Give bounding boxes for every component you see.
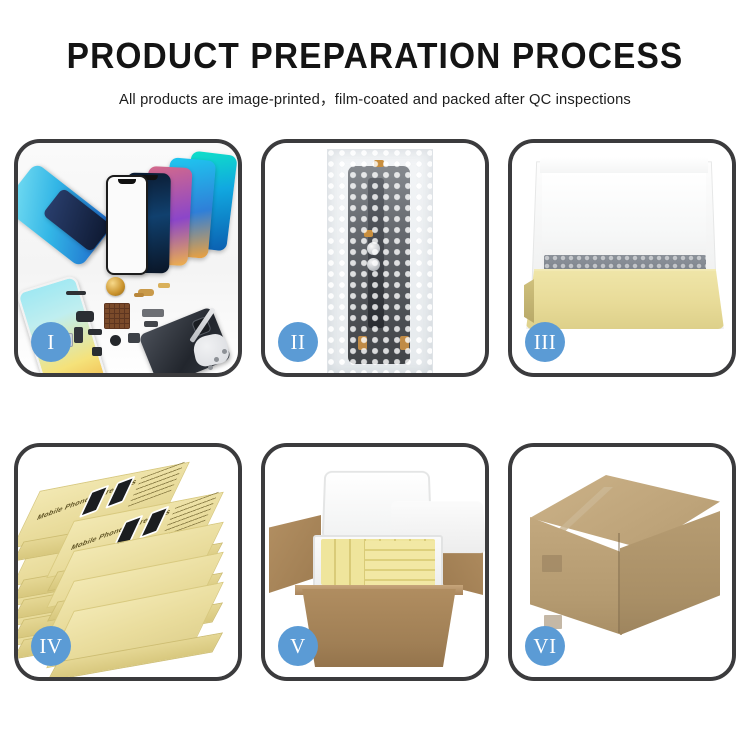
spare-part-icon <box>128 333 140 343</box>
spare-part-icon <box>66 291 86 295</box>
process-step-grid: I II <box>14 139 736 695</box>
step-badge-2: II <box>278 322 318 362</box>
display-panel-1-icon <box>106 175 148 275</box>
screw-icon <box>222 349 227 354</box>
inner-box-body-icon <box>526 271 724 329</box>
foam-box-lid-icon <box>322 471 433 541</box>
inner-box-lid-edge-icon <box>540 157 708 173</box>
step-badge-6: VI <box>525 626 565 666</box>
speaker-part-icon <box>110 335 121 346</box>
phone-screen-yellow-icon <box>18 275 110 373</box>
yellow-boxes-row-icon <box>365 541 435 585</box>
product-preparation-infographic: PRODUCT PREPARATION PROCESS All products… <box>0 0 750 750</box>
process-step-card-4: Mobile Phone Spare Parts Mobile Phone Sp… <box>14 443 242 681</box>
carton-tab-icon <box>542 555 562 572</box>
inner-box-side-icon <box>524 279 534 323</box>
process-step-card-6: VI <box>508 443 736 681</box>
step-badge-4: IV <box>31 626 71 666</box>
screw-icon <box>214 357 219 362</box>
header: PRODUCT PREPARATION PROCESS All products… <box>0 0 750 109</box>
process-step-card-1: I <box>14 139 242 377</box>
bubble-wrap-bag-icon <box>327 149 433 373</box>
flex-cable-icon <box>144 321 158 327</box>
page-subtitle: All products are image-printed，film-coat… <box>11 87 739 109</box>
step-badge-1: I <box>31 322 71 362</box>
coil-component-icon <box>106 277 125 296</box>
step-badge-3: III <box>525 322 565 362</box>
process-step-card-5: V <box>261 443 489 681</box>
logic-board-icon <box>104 303 130 329</box>
page-title: PRODUCT PREPARATION PROCESS <box>26 38 724 74</box>
process-step-card-2: II <box>261 139 489 377</box>
carton-body-icon <box>299 589 459 667</box>
flex-cable-icon <box>142 309 164 317</box>
spare-part-icon <box>134 293 144 297</box>
carton-corner-seam-icon <box>618 533 620 633</box>
screw-icon <box>208 365 213 370</box>
step-badge-5: V <box>278 626 318 666</box>
phone-display-fan-icon <box>92 147 238 267</box>
notch-icon <box>118 179 136 184</box>
spare-part-icon <box>76 311 94 322</box>
spare-part-icon <box>92 347 102 356</box>
bubble-texture-icon <box>328 150 432 373</box>
process-step-card-3: III <box>508 139 736 377</box>
spare-part-icon <box>74 327 83 343</box>
spare-part-icon <box>158 283 170 288</box>
spare-part-icon <box>88 329 102 335</box>
